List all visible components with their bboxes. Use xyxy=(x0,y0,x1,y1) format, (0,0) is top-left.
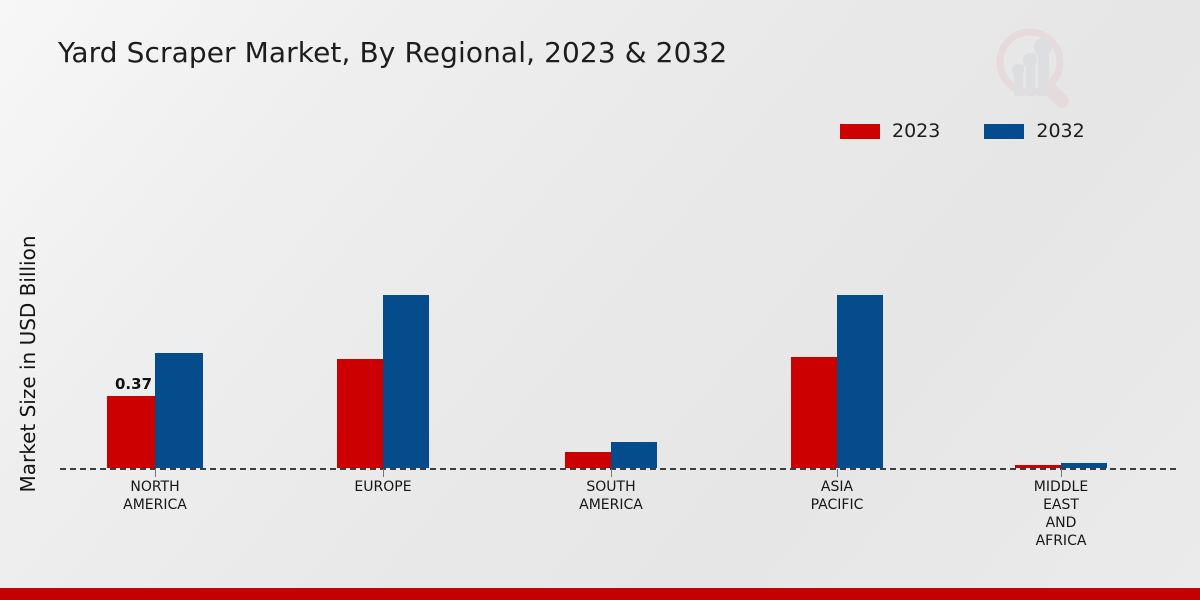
bar-2023-south-america[interactable] xyxy=(565,452,611,468)
bar-2023-middle-east-and-africa[interactable] xyxy=(1015,465,1061,468)
category-label-north-america: NORTH AMERICA xyxy=(80,478,230,514)
tick-middle-east-and-africa xyxy=(1061,469,1062,477)
category-label-line: AFRICA xyxy=(986,532,1136,550)
category-label-line: EAST xyxy=(986,496,1136,514)
tick-north-america xyxy=(155,469,156,477)
bar-group-south-america xyxy=(565,238,657,468)
category-label-middle-east-and-africa: MIDDLE EAST AND AFRICA xyxy=(986,478,1136,550)
bar-group-middle-east-and-africa xyxy=(1015,238,1107,468)
x-axis-baseline xyxy=(60,468,1176,470)
bar-group-north-america: 0.37 xyxy=(107,238,203,468)
category-label-south-america: SOUTH AMERICA xyxy=(536,478,686,514)
category-label-europe: EUROPE xyxy=(308,478,458,496)
category-label-line: ASIA xyxy=(762,478,912,496)
bar-2023-europe[interactable] xyxy=(337,359,383,468)
category-label-line: PACIFIC xyxy=(762,496,912,514)
bar-2032-asia-pacific[interactable] xyxy=(837,295,883,468)
bar-2032-north-america[interactable] xyxy=(155,353,203,468)
tick-europe xyxy=(383,469,384,477)
bar-group-europe xyxy=(337,238,429,468)
chart-container: Yard Scraper Market, By Regional, 2023 &… xyxy=(0,0,1200,600)
category-label-asia-pacific: ASIA PACIFIC xyxy=(762,478,912,514)
plot-area: 0.37 NORTH AMERICA EUROPE SOUTH AMERICA xyxy=(0,0,1200,560)
category-label-line: EUROPE xyxy=(308,478,458,496)
footer-accent-bar xyxy=(0,588,1200,600)
category-label-line: AMERICA xyxy=(536,496,686,514)
bar-2032-europe[interactable] xyxy=(383,295,429,468)
category-label-line: NORTH xyxy=(80,478,230,496)
bar-2032-south-america[interactable] xyxy=(611,442,657,468)
bar-value-label-north-america-2023: 0.37 xyxy=(115,375,152,393)
bar-2023-north-america[interactable] xyxy=(107,396,155,468)
bar-2023-asia-pacific[interactable] xyxy=(791,357,837,468)
bar-2032-middle-east-and-africa[interactable] xyxy=(1061,463,1107,468)
category-label-line: AMERICA xyxy=(80,496,230,514)
category-label-line: SOUTH xyxy=(536,478,686,496)
category-label-line: AND xyxy=(986,514,1136,532)
tick-asia-pacific xyxy=(837,469,838,477)
category-label-line: MIDDLE xyxy=(986,478,1136,496)
bar-group-asia-pacific xyxy=(791,238,883,468)
tick-south-america xyxy=(611,469,612,477)
